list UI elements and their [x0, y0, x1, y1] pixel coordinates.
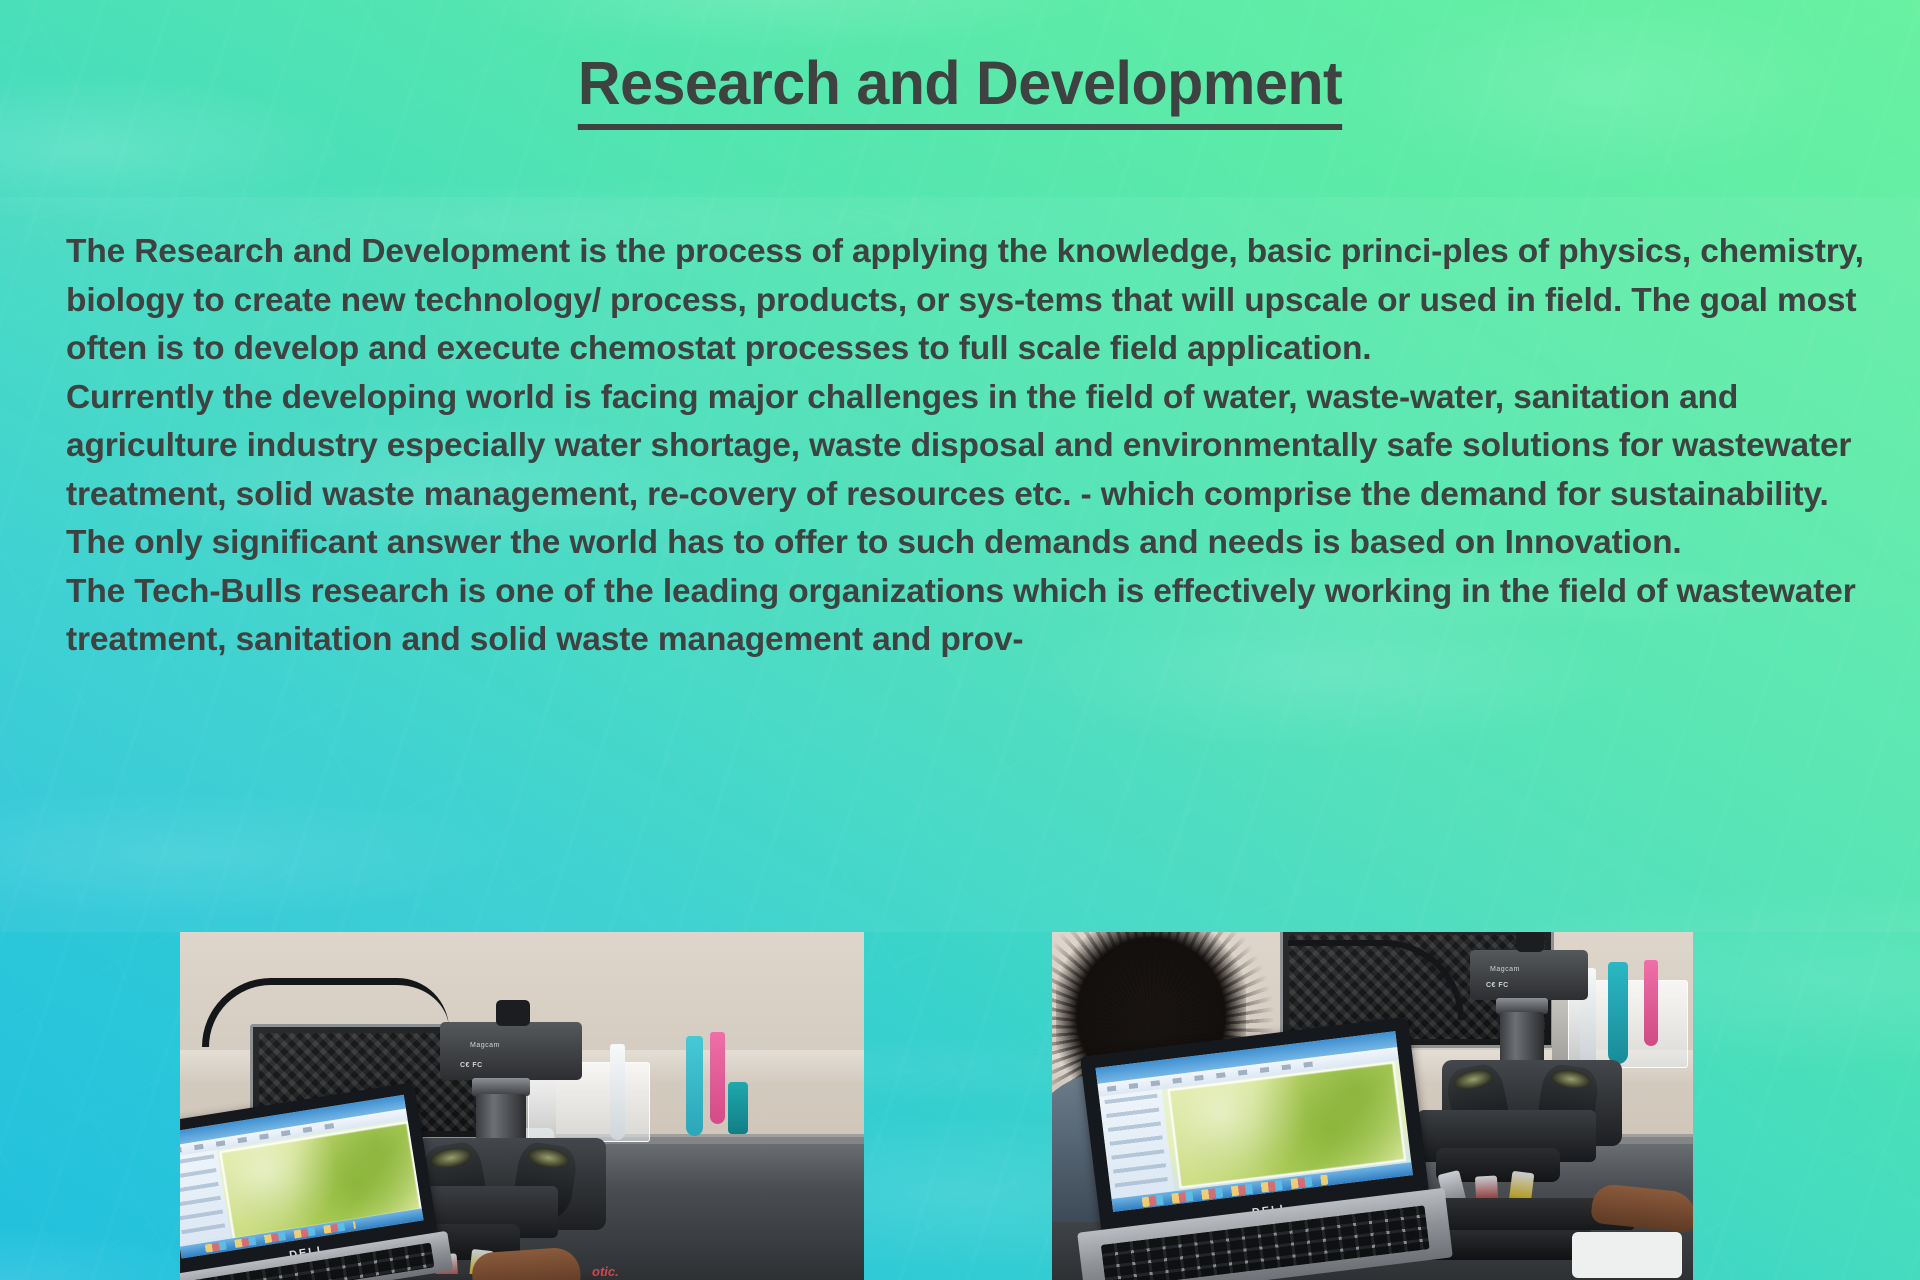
screen-sidebar [1099, 1089, 1175, 1201]
microscope-camera [440, 1022, 582, 1080]
microscope-ce-mark: C€ FC [460, 1062, 483, 1069]
lab-photo-1-scene: Magcam C€ FC otic. [180, 932, 864, 1280]
microscope-camera [1470, 950, 1588, 1000]
body-text-block: The Research and Development is the proc… [66, 228, 1866, 665]
pipette-blue [686, 1036, 703, 1136]
body-paragraph-2: Currently the developing world is facing… [66, 374, 1866, 520]
microscope-ce-mark: C€ FC [1486, 982, 1509, 989]
camera-connector [1516, 932, 1544, 952]
page-title: Research and Development [578, 51, 1342, 130]
body-paragraph-3: The only significant answer the world ha… [66, 519, 1866, 568]
lab-photo-2: Magcam C€ FC [1052, 932, 1693, 1280]
white-tissue [1572, 1232, 1682, 1278]
lab-photo-2-scene: Magcam C€ FC [1052, 932, 1693, 1280]
pipette-pink [710, 1032, 725, 1124]
slide-root: Research and Development The Research an… [0, 0, 1920, 1280]
pipette-teal [728, 1082, 748, 1134]
microscope-brand-label: otic. [592, 1264, 619, 1279]
body-paragraph-1: The Research and Development is the proc… [66, 228, 1866, 374]
microscope-camera-label: Magcam [1490, 966, 1520, 973]
body-paragraph-4: The Tech-Bulls research is one of the le… [66, 568, 1866, 665]
title-container: Research and Development [0, 10, 1920, 171]
microscope-camera-label: Magcam [470, 1042, 500, 1049]
lab-photo-1: Magcam C€ FC otic. [180, 932, 864, 1280]
camera-connector [496, 1000, 530, 1026]
